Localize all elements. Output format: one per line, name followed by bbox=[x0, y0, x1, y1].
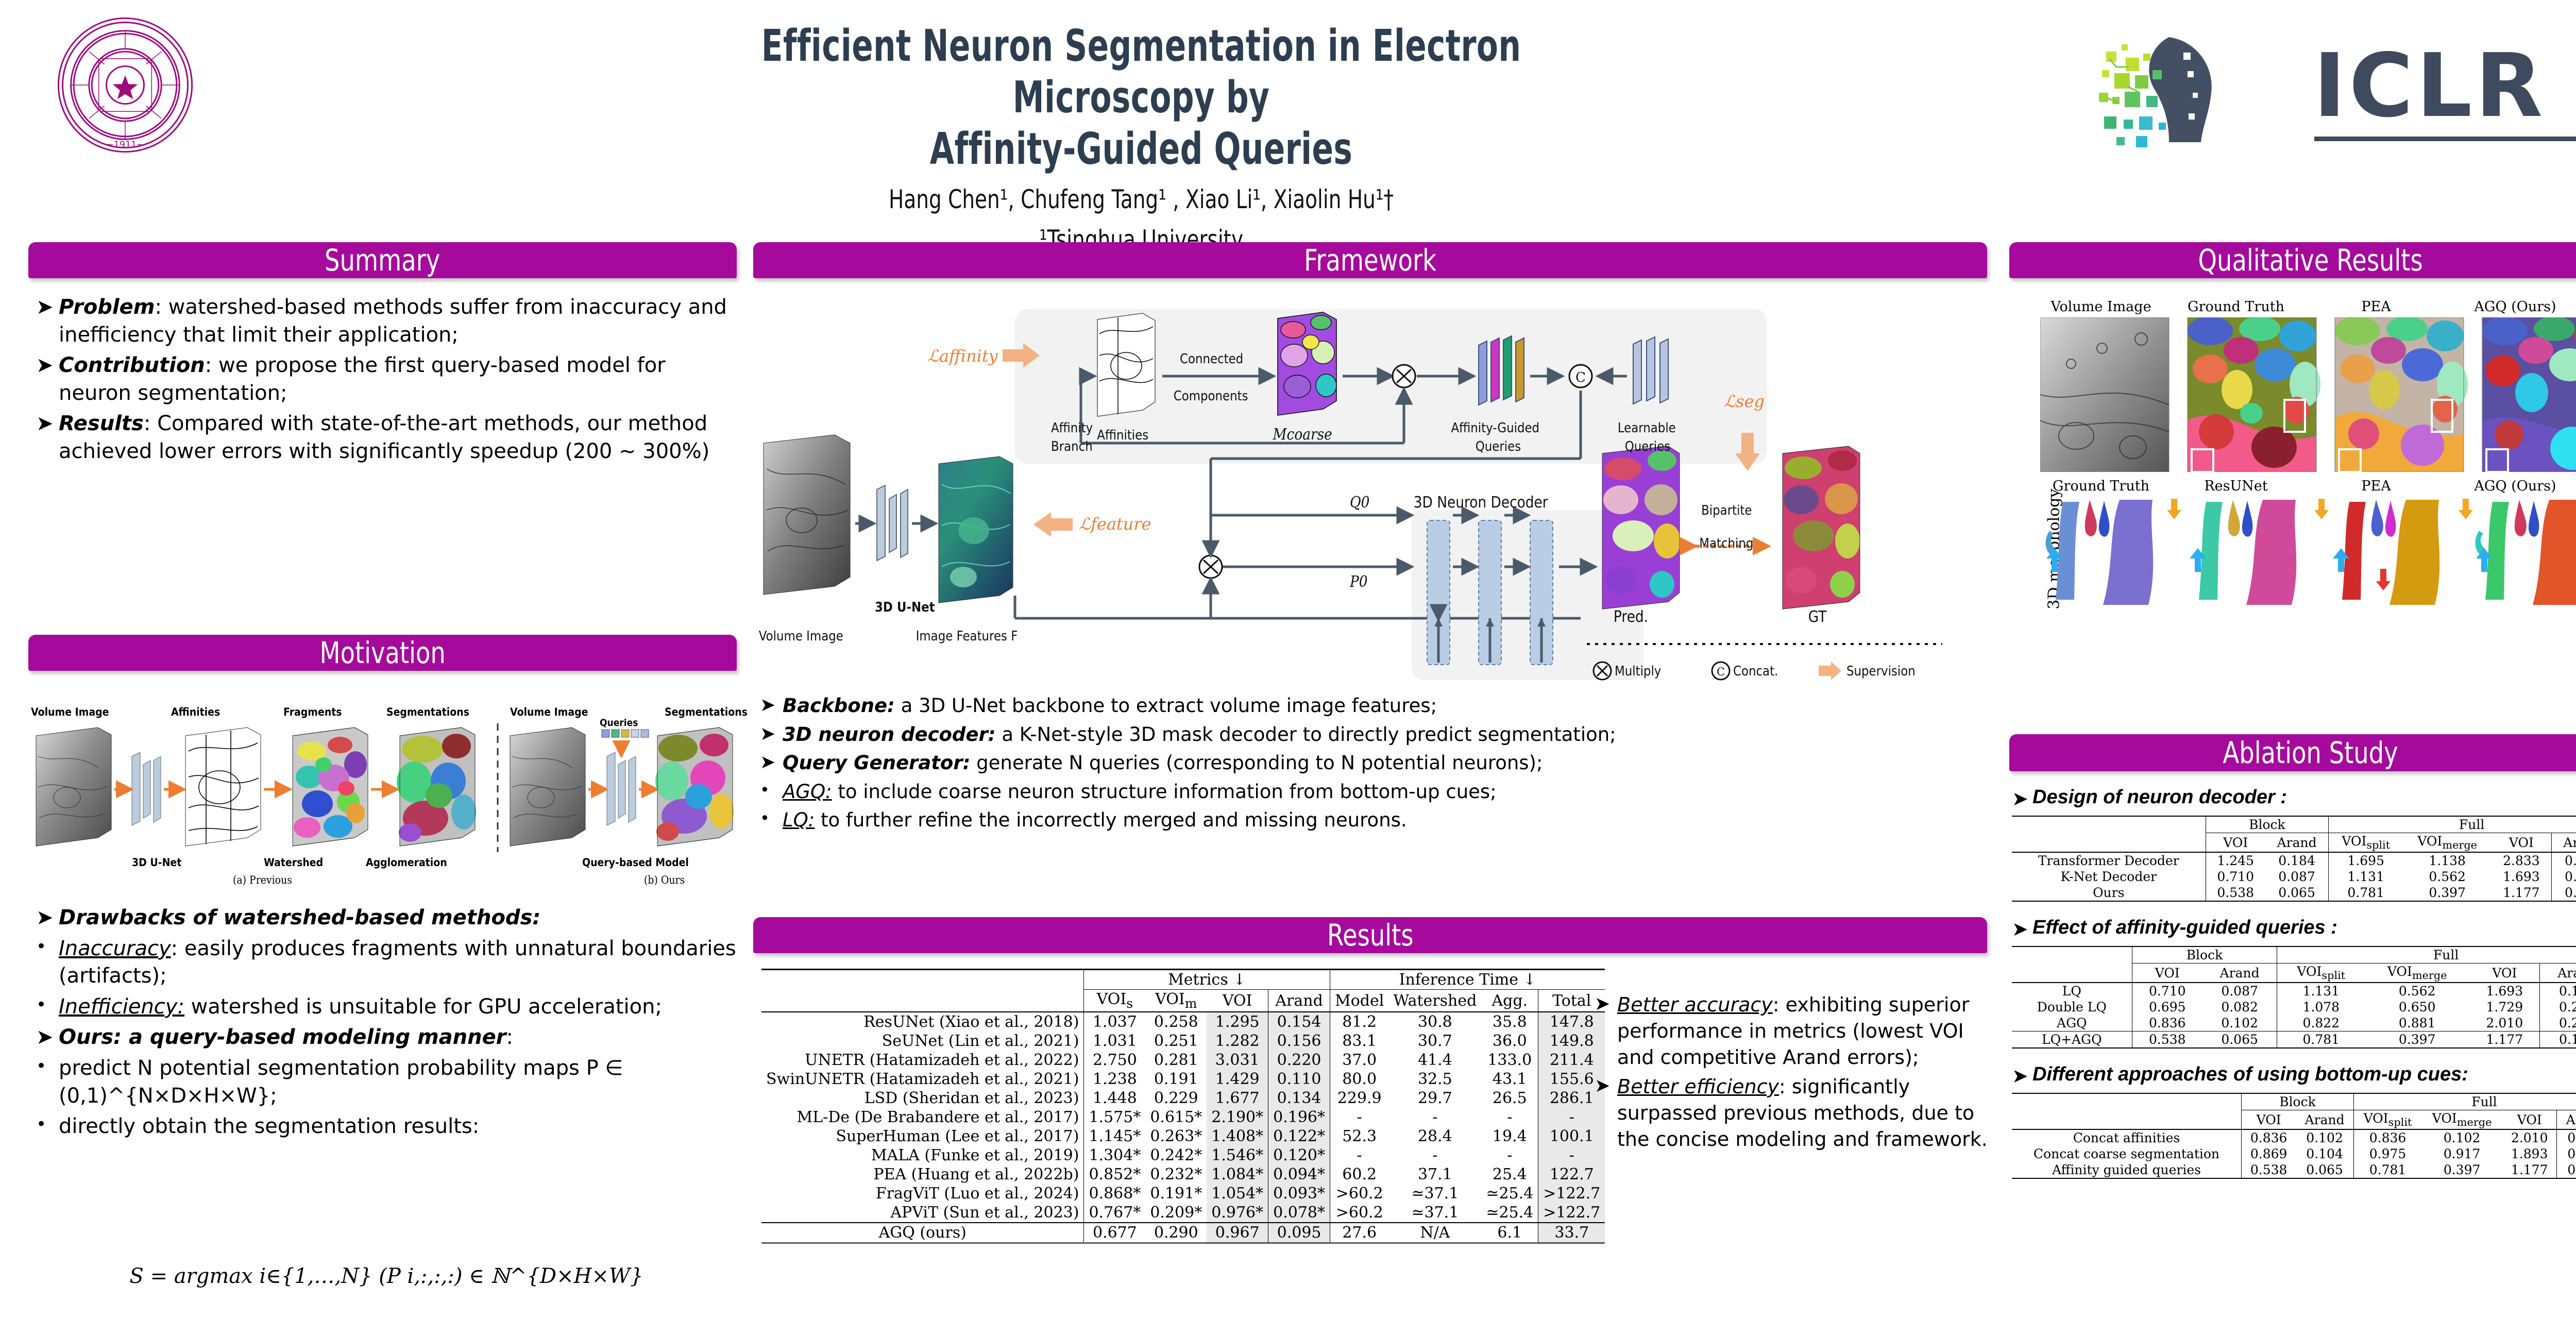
cell: 133.0 bbox=[1481, 1051, 1538, 1070]
cell: 0.065 bbox=[2265, 885, 2329, 901]
column-header-2: VOIsplit bbox=[2277, 963, 2365, 983]
section-banner-qualitative: Qualitative Results bbox=[2009, 242, 2576, 278]
column-header-5: Arand bbox=[2540, 963, 2576, 983]
page-title-line2: Affinity-Guided Queries bbox=[709, 124, 1573, 175]
fw-image-features-label: Image Features F bbox=[916, 629, 1018, 644]
bullet-dot-icon: • bbox=[36, 1055, 59, 1078]
column-header-5: Arand bbox=[2557, 1110, 2576, 1130]
supervision-arrow-icon bbox=[1003, 343, 1040, 368]
cell: 0.078* bbox=[1268, 1203, 1330, 1223]
list-item: ➤ Backbone: a 3D U-Net backbone to extra… bbox=[760, 693, 1986, 719]
cell: 1.145* bbox=[1084, 1127, 1145, 1146]
cell: 0.290 bbox=[1145, 1223, 1207, 1243]
fw-affinities-label: Affinities bbox=[1097, 428, 1148, 443]
column-header-1: Arand bbox=[2265, 833, 2329, 853]
list-item: • Inaccuracy: easily produces fragments … bbox=[36, 935, 737, 990]
cell: 0.160 bbox=[2540, 983, 2576, 999]
list-item: ➤ 3D neuron decoder: a K-Net-style 3D ma… bbox=[760, 722, 1986, 748]
column-header-2: VOIsplit bbox=[2329, 833, 2403, 853]
cell: 0.229 bbox=[2540, 1015, 2576, 1031]
list-item: ➤ Contribution: we propose the first que… bbox=[36, 352, 737, 407]
column-header-0: VOI bbox=[2132, 963, 2202, 983]
cell: 2.010 bbox=[2502, 1129, 2557, 1146]
fwb-rest-2: generate N queries (corresponding to N p… bbox=[970, 752, 1543, 774]
cell: - bbox=[1481, 1108, 1538, 1127]
cell: 0.781 bbox=[2277, 1031, 2365, 1049]
cell: 3.031 bbox=[1207, 1051, 1268, 1070]
table-row-final: AGQ (ours)0.6770.2900.9670.09527.6N/A6.1… bbox=[761, 1223, 1605, 1243]
column-header-2: VOIsplit bbox=[2353, 1110, 2421, 1130]
column-header-2: VOI bbox=[1207, 990, 1268, 1012]
cell: 0.093* bbox=[1268, 1184, 1330, 1203]
cell: 1.677 bbox=[1207, 1089, 1268, 1108]
cell: 0.397 bbox=[2421, 1162, 2502, 1178]
cell: 25.4 bbox=[1481, 1165, 1538, 1184]
table-row: MALA (Funke et al., 2019)1.304*0.242*1.5… bbox=[761, 1146, 1605, 1165]
cell: 1.546* bbox=[1207, 1146, 1268, 1165]
cell: 1.054* bbox=[1207, 1184, 1268, 1203]
cell: 35.8 bbox=[1481, 1012, 1538, 1031]
row-name: Double LQ bbox=[2012, 999, 2132, 1015]
cell: 0.154 bbox=[1268, 1012, 1330, 1031]
cell: 1.575* bbox=[1084, 1108, 1145, 1127]
cell: 0.397 bbox=[2403, 885, 2492, 901]
fw-connected-2: Components bbox=[1174, 388, 1248, 404]
cell: - bbox=[1330, 1146, 1389, 1165]
summary-lead-1: Contribution bbox=[59, 353, 205, 377]
qual2-col-2: ResUNet bbox=[2204, 478, 2267, 494]
loss-affinity-label: ℒaffinity bbox=[927, 346, 998, 366]
list-item: • predict N potential segmentation proba… bbox=[36, 1055, 737, 1110]
cell: 0.156 bbox=[1268, 1031, 1330, 1051]
drawbacks-underline-1: Inaccuracy bbox=[59, 937, 171, 960]
cell: 81.2 bbox=[1330, 1012, 1389, 1031]
cell: 19.4 bbox=[1481, 1127, 1538, 1146]
cell: 0.395 bbox=[2551, 852, 2576, 869]
fwb-lead-1: 3D neuron decoder: bbox=[783, 723, 996, 746]
cell: 43.1 bbox=[1481, 1070, 1538, 1089]
cell: 0.975 bbox=[2353, 1146, 2421, 1162]
cell: 0.102 bbox=[2421, 1129, 2502, 1146]
cell: 60.2 bbox=[1330, 1165, 1389, 1184]
cell: >60.2 bbox=[1330, 1184, 1389, 1203]
cell: 0.852* bbox=[1084, 1165, 1145, 1184]
qual-col-3: PEA bbox=[2361, 299, 2391, 315]
bullet-dot-icon: • bbox=[760, 779, 783, 801]
row-method: PEA (Huang et al., 2022b) bbox=[761, 1165, 1084, 1184]
cell: 0.102 bbox=[2296, 1129, 2353, 1146]
cell: 0.094* bbox=[1268, 1165, 1330, 1184]
bullet-arrow-icon: ➤ bbox=[36, 1024, 59, 1051]
table-row: ML-De (De Brabandere et al., 2017)1.575*… bbox=[761, 1108, 1605, 1127]
row-name: K-Net Decoder bbox=[2012, 869, 2206, 885]
column-header-4: VOI bbox=[2492, 833, 2551, 853]
cell: 32.5 bbox=[1388, 1070, 1481, 1089]
rs-underline-1: Better efficiency bbox=[1617, 1075, 1779, 1098]
mf-label-segmentations-b: Segmentations bbox=[665, 706, 748, 718]
qual-col-4: AGQ (Ours) bbox=[2474, 299, 2556, 315]
segmentation-formula: S = argmax i∈{1,…,N} (P i,:,:,:) ∈ ℕ^{D×… bbox=[36, 1264, 737, 1288]
table-column-header-row: VOIArandVOIsplitVOImergeVOIArand bbox=[2012, 1110, 2576, 1130]
cell: 0.122* bbox=[1268, 1127, 1330, 1146]
supervision-arrow-icon bbox=[1735, 433, 1760, 471]
column-header-6: Agg. bbox=[1481, 990, 1538, 1012]
cell: - bbox=[1330, 1108, 1389, 1127]
group-header-block: Block bbox=[2242, 1093, 2354, 1110]
bullet-arrow-icon: ➤ bbox=[760, 750, 783, 775]
fwb-underline-4: LQ: bbox=[783, 809, 815, 831]
cell: 0.229 bbox=[1145, 1089, 1207, 1108]
ablation-subtitle-2-wrap: ➤ Different approaches of using bottom-u… bbox=[2012, 1063, 2576, 1089]
cell: 1.031 bbox=[1084, 1031, 1145, 1051]
group-header-block: Block bbox=[2206, 816, 2329, 833]
cell: 0.087 bbox=[2202, 983, 2277, 999]
cell: 1.448 bbox=[1084, 1089, 1145, 1108]
cell: 1.177 bbox=[2469, 1031, 2540, 1049]
cell: 0.881 bbox=[2365, 1015, 2469, 1031]
iclr-logo: ICLR bbox=[2092, 26, 2576, 155]
section-banner-summary: Summary bbox=[28, 242, 737, 278]
fw-affinity-branch-1: Affinity bbox=[1051, 420, 1093, 436]
fwb-rest-3: to include coarse neuron structure infor… bbox=[832, 781, 1497, 803]
results-table: Metrics ↓Inference Time ↓VOIsVOImVOIAran… bbox=[761, 969, 1605, 1245]
bullet-dot-icon: • bbox=[36, 993, 59, 1017]
row-method: MALA (Funke et al., 2019) bbox=[761, 1146, 1084, 1165]
drawbacks-rest-2: watershed is unsuitable for GPU accelera… bbox=[184, 995, 662, 1019]
cell: 0.229 bbox=[2557, 1129, 2576, 1146]
fw-lq-2: Queries bbox=[1625, 439, 1670, 454]
cell: 26.5 bbox=[1481, 1089, 1538, 1108]
cell: 0.917 bbox=[2421, 1146, 2502, 1162]
cell: 0.209 bbox=[2540, 999, 2576, 1015]
column-header-5: Watershed bbox=[1388, 990, 1481, 1012]
iclr-wordmark: ICLR bbox=[2313, 41, 2546, 131]
bullet-dot-icon: • bbox=[36, 935, 59, 958]
cell: 0.110 bbox=[1268, 1070, 1330, 1089]
iclr-underline bbox=[2314, 137, 2576, 141]
qual-2d-row-graphic bbox=[2040, 317, 2576, 472]
bullet-dot-icon: • bbox=[36, 1113, 59, 1136]
row-method: SwinUNETR (Hatamizadeh et al., 2021) bbox=[761, 1070, 1084, 1089]
table-column-header-row: VOIArandVOIsplitVOImergeVOIArand bbox=[2012, 963, 2576, 983]
bullet-arrow-icon: ➤ bbox=[2012, 916, 2032, 942]
cell: ≃25.4 bbox=[1481, 1184, 1538, 1203]
fw-p0-label: P0 bbox=[1350, 573, 1368, 591]
row-method: LSD (Sheridan et al., 2023) bbox=[761, 1089, 1084, 1108]
list-item: • directly obtain the segmentation resul… bbox=[36, 1113, 737, 1141]
cell: 1.084* bbox=[1207, 1165, 1268, 1184]
cell: 0.562 bbox=[2365, 983, 2469, 999]
cell: 0.281 bbox=[1145, 1051, 1207, 1070]
results-commentary-list: ➤ Better accuracy: exhibiting superior p… bbox=[1595, 992, 1991, 1155]
results-banner-label: Results bbox=[1327, 918, 1414, 953]
bullet-arrow-icon: ➤ bbox=[760, 693, 783, 718]
cell: >60.2 bbox=[1330, 1203, 1389, 1223]
cell: ≃37.1 bbox=[1388, 1184, 1481, 1203]
cell: 0.220 bbox=[1268, 1051, 1330, 1070]
cell: 0.781 bbox=[2353, 1162, 2421, 1178]
mf-label-segmentations-a: Segmentations bbox=[386, 706, 469, 718]
list-item: • LQ: to further refine the incorrectly … bbox=[760, 807, 1986, 833]
table-row: UNETR (Hatamizadeh et al., 2022)2.7500.2… bbox=[761, 1051, 1605, 1070]
cell: 1.131 bbox=[2329, 869, 2403, 885]
mf-label-watershed: Watershed bbox=[264, 856, 323, 869]
qualitative-banner-label: Qualitative Results bbox=[2198, 243, 2423, 278]
bullet-arrow-icon: ➤ bbox=[36, 410, 59, 437]
tsinghua-university-seal-icon: ~1911~ bbox=[56, 15, 195, 155]
bullet-arrow-icon: ➤ bbox=[1595, 1074, 1617, 1098]
drawbacks-rest-4: predict N potential segmentation probabi… bbox=[59, 1055, 737, 1110]
mf-label-query-based-model: Query-based Model bbox=[582, 856, 689, 869]
cell: 0.065 bbox=[2202, 1031, 2277, 1049]
cell: 0.397 bbox=[2365, 1031, 2469, 1049]
cell: 29.7 bbox=[1388, 1089, 1481, 1108]
fw-connected-1: Connected bbox=[1180, 351, 1243, 367]
section-banner-ablation: Ablation Study bbox=[2009, 734, 2576, 771]
column-header-1: Arand bbox=[2202, 963, 2277, 983]
cell: 0.104 bbox=[2296, 1146, 2353, 1162]
fw-legend-supervision-label: Supervision bbox=[1846, 664, 1916, 679]
cell: 0.196* bbox=[1268, 1108, 1330, 1127]
row-method: ML-De (De Brabandere et al., 2017) bbox=[761, 1108, 1084, 1127]
motivation-banner-label: Motivation bbox=[319, 635, 445, 670]
drawbacks-rest-5: directly obtain the segmentation results… bbox=[59, 1113, 737, 1141]
drawbacks-list: ➤ Drawbacks of watershed-based methods: … bbox=[36, 904, 737, 1144]
list-item: • AGQ: to include coarse neuron structur… bbox=[760, 779, 1986, 805]
cell: 52.3 bbox=[1330, 1127, 1389, 1146]
cell: 37.0 bbox=[1330, 1051, 1389, 1070]
cell: 0.191* bbox=[1145, 1184, 1207, 1203]
cell: 0.087 bbox=[2265, 869, 2329, 885]
bullet-arrow-icon: ➤ bbox=[36, 294, 59, 321]
row-method: UNETR (Hatamizadeh et al., 2022) bbox=[761, 1051, 1084, 1070]
mf-label-queries: Queries bbox=[600, 717, 638, 729]
table-row: AGQ0.8360.1020.8220.8812.0100.229 bbox=[2012, 1015, 2576, 1031]
fw-legend-concat-label: Concat. bbox=[1733, 664, 1778, 679]
cell: 1.131 bbox=[2277, 983, 2365, 999]
row-method: FragViT (Luo et al., 2024) bbox=[761, 1184, 1084, 1203]
bullet-arrow-icon: ➤ bbox=[2012, 1063, 2032, 1089]
bullet-arrow-icon: ➤ bbox=[36, 352, 59, 379]
ablation-subtitle-2: Different approaches of using bottom-up … bbox=[2032, 1063, 2576, 1087]
drawbacks-lead-3: Ours: a query-based modeling manner bbox=[59, 1025, 506, 1049]
cell: 1.245 bbox=[2206, 852, 2265, 869]
bullet-arrow-icon: ➤ bbox=[36, 904, 59, 932]
cell: 229.9 bbox=[1330, 1089, 1389, 1108]
cell: 1.695 bbox=[2329, 852, 2403, 869]
section-banner-results: Results bbox=[753, 917, 1987, 953]
cell: 6.1 bbox=[1481, 1223, 1538, 1243]
row-name: Ours bbox=[2012, 885, 2206, 901]
section-banner-motivation: Motivation bbox=[28, 635, 737, 671]
table-row: Concat coarse segmentation0.8690.1040.97… bbox=[2012, 1146, 2576, 1162]
fw-mcoarse-label: Mcoarse bbox=[1273, 426, 1332, 444]
table-row: SwinUNETR (Hatamizadeh et al., 2021)1.23… bbox=[761, 1070, 1605, 1089]
cell: 0.967 bbox=[1207, 1223, 1268, 1243]
cell: 30.8 bbox=[1388, 1012, 1481, 1031]
cell: >122.7 bbox=[1538, 1203, 1605, 1223]
column-header-3: VOImerge bbox=[2421, 1110, 2502, 1130]
bullet-arrow-icon: ➤ bbox=[1595, 992, 1617, 1017]
cell: 0.710 bbox=[2206, 869, 2265, 885]
cell: 1.693 bbox=[2492, 869, 2551, 885]
cell: 2.833 bbox=[2492, 852, 2551, 869]
cell: 80.0 bbox=[1330, 1070, 1389, 1089]
cell: 0.836 bbox=[2132, 1015, 2202, 1031]
cell: 0.184 bbox=[2265, 852, 2329, 869]
column-header-0: VOI bbox=[2206, 833, 2265, 853]
loss-seg-label: ℒseg bbox=[1724, 392, 1765, 411]
cell: 1.238 bbox=[1084, 1070, 1145, 1089]
row-name: Concat coarse segmentation bbox=[2012, 1146, 2242, 1162]
cell: 1.282 bbox=[1207, 1031, 1268, 1051]
bullet-arrow-icon: ➤ bbox=[2012, 786, 2032, 811]
summary-banner-label: Summary bbox=[325, 243, 440, 278]
table-row: K-Net Decoder0.7100.0871.1310.5621.6930.… bbox=[2012, 869, 2576, 885]
fwb-rest-4: to further refine the incorrectly merged… bbox=[815, 809, 1406, 831]
mf-caption-a: (a) Previous bbox=[233, 874, 292, 886]
ablation-table-1: BlockFullVOIArandVOIsplitVOImergeVOIAran… bbox=[2012, 946, 2576, 1050]
qual2-col-3: PEA bbox=[2361, 478, 2391, 494]
cell: 0.868* bbox=[1084, 1184, 1145, 1203]
row-name: LQ+AGQ bbox=[2012, 1031, 2132, 1049]
list-item: ➤ Ours: a query-based modeling manner: bbox=[36, 1024, 737, 1052]
cell: 28.4 bbox=[1388, 1127, 1481, 1146]
summary-rest-0: : watershed-based methods suffer from in… bbox=[59, 295, 727, 347]
cell: 83.1 bbox=[1330, 1031, 1389, 1051]
cell: 33.7 bbox=[1538, 1223, 1605, 1243]
group-header-metrics: Metrics ↓ bbox=[1084, 970, 1330, 990]
column-header-1: VOIm bbox=[1145, 990, 1207, 1012]
cell: 0.538 bbox=[2242, 1162, 2296, 1178]
group-header-block: Block bbox=[2132, 946, 2277, 963]
table-row: FragViT (Luo et al., 2024)0.868*0.191*1.… bbox=[761, 1184, 1605, 1203]
summary-list: ➤ Problem: watershed-based methods suffe… bbox=[36, 294, 737, 469]
table-row: Concat affinities0.8360.1020.8360.1022.0… bbox=[2012, 1129, 2576, 1146]
fw-volume-image-label: Volume Image bbox=[759, 629, 843, 644]
column-header-4: Model bbox=[1330, 990, 1389, 1012]
cell: 0.242* bbox=[1145, 1146, 1207, 1165]
qual-col-2: Ground Truth bbox=[2188, 299, 2284, 315]
mf-caption-b: (b) Ours bbox=[644, 874, 685, 886]
ablation-subtitle-1-wrap: ➤ Effect of affinity-guided queries : bbox=[2012, 916, 2576, 942]
drawbacks-lead-0: Drawbacks of watershed-based methods: bbox=[59, 906, 540, 929]
summary-rest-2: : Compared with state-of-the-art methods… bbox=[59, 412, 709, 463]
cell: 0.677 bbox=[1084, 1223, 1145, 1243]
row-name: Affinity guided queries bbox=[2012, 1162, 2242, 1178]
row-method: SeUNet (Lin et al., 2021) bbox=[761, 1031, 1084, 1051]
ablation-subtitle-0-wrap: ➤ Design of neuron decoder : bbox=[2012, 786, 2576, 811]
cell: 0.869 bbox=[2242, 1146, 2296, 1162]
cell: 2.010 bbox=[2469, 1015, 2540, 1031]
cell: 0.191 bbox=[1145, 1070, 1207, 1089]
bullet-arrow-icon: ➤ bbox=[760, 722, 783, 747]
ablation-body: ➤ Design of neuron decoder : BlockFullVO… bbox=[2012, 786, 2576, 1180]
cell: 0.263* bbox=[1145, 1127, 1207, 1146]
cell: 1.408* bbox=[1207, 1127, 1268, 1146]
fw-agq-1: Affinity-Guided bbox=[1451, 420, 1540, 436]
cell: 0.650 bbox=[2365, 999, 2469, 1015]
column-header-3: VOImerge bbox=[2365, 963, 2469, 983]
table-row: Ours0.5380.0650.7810.3971.1770.141 bbox=[2012, 885, 2576, 901]
cell: 1.037 bbox=[1084, 1012, 1145, 1031]
cell: 0.976* bbox=[1207, 1203, 1268, 1223]
cell: 1.729 bbox=[2469, 999, 2540, 1015]
table-group-header-row: BlockFull bbox=[2012, 1093, 2576, 1110]
cell: ≃37.1 bbox=[1388, 1203, 1481, 1223]
table-row: Double LQ0.6950.0821.0780.6501.7290.209 bbox=[2012, 999, 2576, 1015]
table-column-header-row: VOIsVOImVOIArandModelWatershedAgg.Total bbox=[761, 990, 1605, 1012]
cell: 0.538 bbox=[2132, 1031, 2202, 1049]
section-banner-framework: Framework bbox=[753, 242, 1987, 278]
table-row: ResUNet (Xiao et al., 2018)1.0370.2581.2… bbox=[761, 1012, 1605, 1031]
cell: 1.893 bbox=[2502, 1146, 2557, 1162]
cell: 0.781 bbox=[2329, 885, 2403, 901]
fw-unet-label: 3D U-Net bbox=[875, 600, 935, 615]
table-row: LQ+AGQ0.5380.0650.7810.3971.1770.141 bbox=[2012, 1031, 2576, 1049]
mf-label-3d-unet: 3D U-Net bbox=[132, 856, 181, 869]
cell: 0.102 bbox=[2202, 1015, 2277, 1031]
framework-banner-label: Framework bbox=[1304, 243, 1436, 278]
cell: - bbox=[1388, 1146, 1481, 1165]
cell: N/A bbox=[1388, 1223, 1481, 1243]
framework-figure: C bbox=[757, 289, 1989, 690]
ablation-subtitle-0: Design of neuron decoder : bbox=[2032, 786, 2576, 809]
cell: 2.190* bbox=[1207, 1108, 1268, 1127]
cell: 0.141 bbox=[2557, 1162, 2576, 1178]
cell: 0.562 bbox=[2403, 869, 2492, 885]
framework-bullets-list: ➤ Backbone: a 3D U-Net backbone to extra… bbox=[760, 693, 1986, 836]
cell: >122.7 bbox=[1538, 1184, 1605, 1203]
ablation-subtitle-1: Effect of affinity-guided queries : bbox=[2032, 916, 2576, 940]
list-item: ➤ Better accuracy: exhibiting superior p… bbox=[1595, 992, 1991, 1071]
column-header-1: Arand bbox=[2296, 1110, 2353, 1130]
list-item: ➤ Query Generator: generate N queries (c… bbox=[760, 750, 1986, 776]
cell: 0.120* bbox=[1268, 1146, 1330, 1165]
cell: 0.095 bbox=[1268, 1223, 1330, 1243]
cell: 37.1 bbox=[1388, 1165, 1481, 1184]
cell: 0.710 bbox=[2132, 983, 2202, 999]
cell: 0.065 bbox=[2296, 1162, 2353, 1178]
table-row: PEA (Huang et al., 2022b)0.852*0.232*1.0… bbox=[761, 1165, 1605, 1184]
fw-agq-2: Queries bbox=[1476, 439, 1521, 454]
fw-bipartite-2: Matching bbox=[1699, 536, 1753, 551]
cell: 0.141 bbox=[2551, 885, 2576, 901]
fwb-lead-0: Backbone: bbox=[783, 695, 895, 717]
cell: 1.177 bbox=[2492, 885, 2551, 901]
qualitative-figure: 2D section 3D morphology Volume Image Gr… bbox=[2009, 299, 2576, 618]
cell: 0.695 bbox=[2132, 999, 2202, 1015]
row-method: ResUNet (Xiao et al., 2018) bbox=[761, 1012, 1084, 1031]
drawbacks-rest-3: : bbox=[506, 1025, 513, 1049]
cell: 1.693 bbox=[2469, 983, 2540, 999]
row-name: Concat affinities bbox=[2012, 1129, 2242, 1146]
fw-decoder-label: 3D Neuron Decoder bbox=[1414, 494, 1548, 512]
fw-bipartite-1: Bipartite bbox=[1701, 503, 1752, 518]
motivation-pipeline-graphic bbox=[31, 720, 737, 854]
cell: - bbox=[1481, 1146, 1538, 1165]
table-group-header-row: BlockFull bbox=[2012, 946, 2576, 963]
svg-text:C: C bbox=[1575, 370, 1586, 385]
column-header-5: Arand bbox=[2551, 833, 2576, 853]
cell: 0.232* bbox=[1145, 1165, 1207, 1184]
cell: - bbox=[1388, 1108, 1481, 1127]
supervision-arrow-icon bbox=[1033, 512, 1073, 537]
column-header-4: VOI bbox=[2502, 1110, 2557, 1130]
cell: 30.7 bbox=[1388, 1031, 1481, 1051]
row-method: AGQ (ours) bbox=[761, 1223, 1084, 1243]
table-row: SeUNet (Lin et al., 2021)1.0310.2511.282… bbox=[761, 1031, 1605, 1051]
